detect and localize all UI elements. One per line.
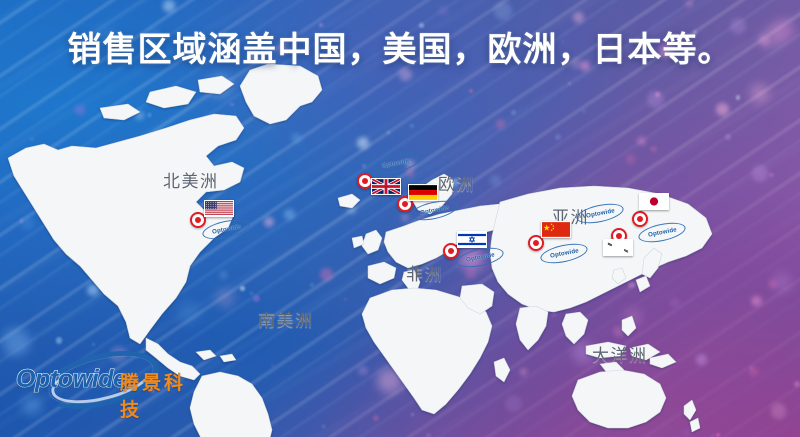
continent-label-africa: 非洲 [406, 260, 443, 285]
brand-name-cn: 腾景科技 [120, 368, 206, 422]
continent-label-south-america: 南美洲 [258, 306, 314, 331]
pin-dot-icon [533, 240, 539, 246]
banner-root: 北美洲南美洲欧洲非洲亚洲大洋洲 OptowideOptowideOptowide… [0, 0, 800, 437]
continent-label-europe: 欧洲 [438, 170, 475, 195]
optowide-watermark-japan: Optowide [638, 224, 686, 241]
optowide-watermark-united-kingdom: Optowide [372, 155, 420, 172]
pin-dot-icon [448, 248, 454, 254]
page-title: 销售区域涵盖中国，美国，欧洲，日本等。 [0, 22, 800, 71]
bokeh-dot [163, 0, 174, 11]
optowide-watermark-usa: Optowide [202, 221, 250, 238]
optowide-watermark-china: Optowide [540, 245, 588, 262]
continent-label-oceania: 大洋洲 [592, 341, 648, 366]
bokeh-dot [494, 2, 512, 20]
continent-label-north-america: 北美洲 [163, 167, 219, 192]
optowide-watermark-south-korea: Optowide [576, 205, 624, 222]
bokeh-dot [438, 6, 448, 16]
bokeh-dot [573, 12, 584, 23]
brand-logo[interactable]: Optowide 腾景科技 [6, 352, 206, 410]
brand-name-en: Optowide [16, 365, 127, 394]
optowide-watermark-israel: Optowide [456, 249, 504, 266]
pin-dot-icon [637, 216, 643, 222]
pin-dot-icon [402, 201, 408, 207]
flag-china-icon [541, 221, 571, 238]
bokeh-dot [686, 0, 693, 7]
flag-japan-icon [639, 193, 669, 210]
optowide-watermark-germany: Optowide [410, 202, 458, 219]
flag-uk-icon [371, 178, 401, 195]
flag-usa-icon [204, 200, 234, 217]
pin-dot-icon [195, 217, 201, 223]
flag-south-korea-icon [603, 239, 633, 256]
pin-dot-icon [362, 178, 368, 184]
